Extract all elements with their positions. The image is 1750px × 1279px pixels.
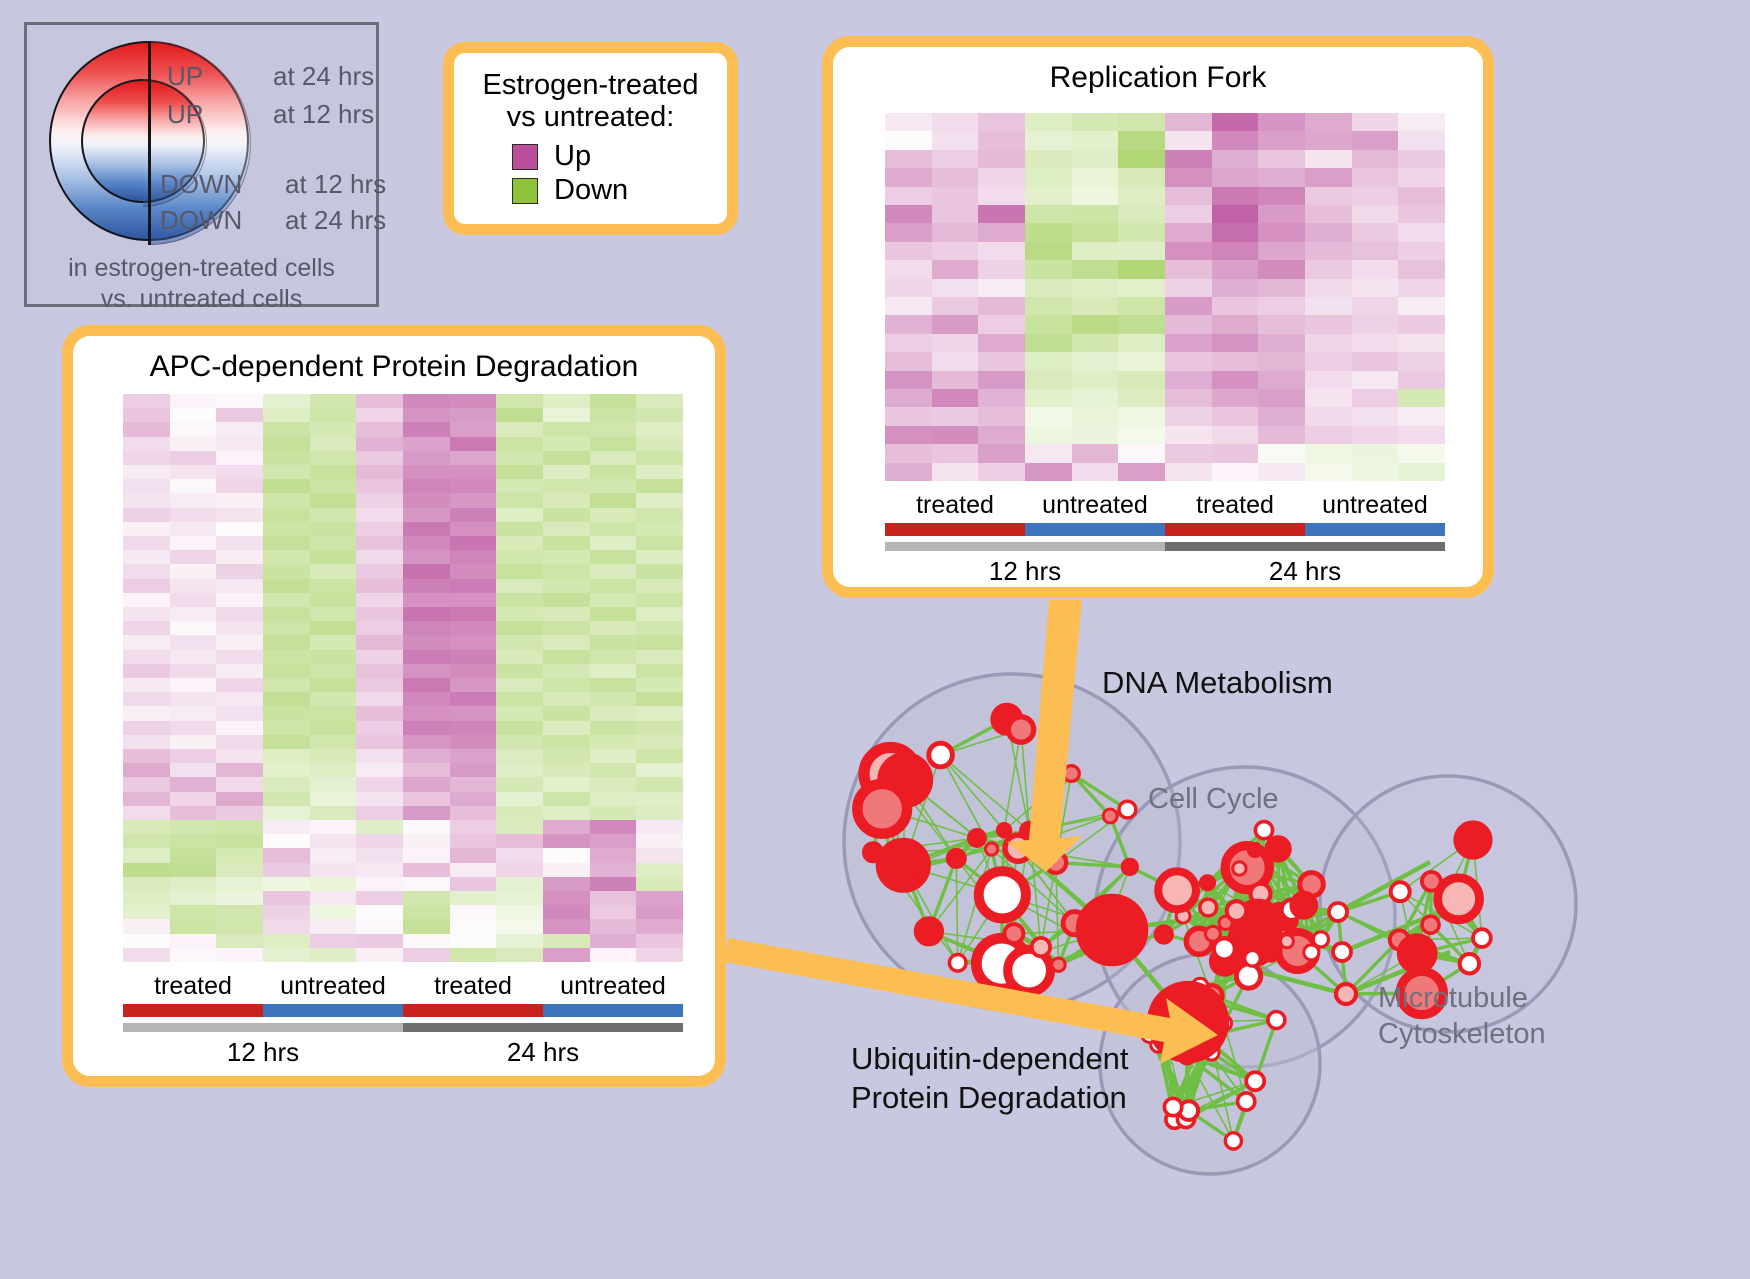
heatmap-cell (263, 777, 310, 791)
disc-time-down-12: at 12 hrs (285, 169, 386, 200)
heatmap-cell (496, 777, 543, 791)
heatmap-cell (636, 422, 683, 436)
treatment-label-row: treateduntreatedtreateduntreated (885, 491, 1445, 520)
heatmap-cell (450, 763, 497, 777)
heatmap-cell (636, 905, 683, 919)
heatmap-cell (403, 678, 450, 692)
heatmap-cell (310, 394, 357, 408)
network-node[interactable] (1046, 852, 1067, 873)
heatmap-cell (263, 607, 310, 621)
heatmap-cell (1072, 315, 1119, 333)
heatmap-cell (543, 408, 590, 422)
network-node[interactable] (1391, 882, 1410, 901)
heatmap-cell (1165, 407, 1212, 425)
heatmap-cell (123, 522, 170, 536)
heatmap-cell (356, 905, 403, 919)
heatmap-cell (978, 260, 1025, 278)
heatmap-cell (1165, 389, 1212, 407)
heatmap-cell (496, 579, 543, 593)
heatmap-cell (263, 820, 310, 834)
heatmap-cell (216, 635, 263, 649)
network-node[interactable] (1122, 859, 1137, 874)
heatmap-cell (356, 451, 403, 465)
heatmap-cell (543, 749, 590, 763)
heatmap-cell (496, 863, 543, 877)
heatmap-cell (403, 806, 450, 820)
heatmap-cell (170, 678, 217, 692)
network-node[interactable] (1158, 871, 1196, 909)
ubiquitin-line1: Ubiquitin-dependent (851, 1040, 1129, 1079)
network-node[interactable] (1248, 843, 1261, 856)
network-node[interactable] (1336, 984, 1356, 1004)
heatmap-cell (216, 721, 263, 735)
heatmap-cell (1025, 242, 1072, 260)
heatmap-cell (1165, 297, 1212, 315)
heatmap-cell (1165, 260, 1212, 278)
heatmap-cell (496, 806, 543, 820)
network-node[interactable] (1457, 824, 1489, 856)
heatmap-cell (543, 934, 590, 948)
heatmap-cell (403, 493, 450, 507)
heatmap-cell (263, 678, 310, 692)
heatmap-cell (1212, 168, 1259, 186)
network-node[interactable] (1064, 766, 1080, 782)
disc-label-up-24: UP (167, 61, 203, 92)
heatmap-cell (450, 465, 497, 479)
heatmap-cell (310, 721, 357, 735)
heatmap-cell (403, 508, 450, 522)
heatmap-cell (932, 315, 979, 333)
heatmap-cell (170, 948, 217, 962)
replication-fork-title: Replication Fork (833, 47, 1483, 105)
heatmap-cell (590, 536, 637, 550)
heatmap-cell (1118, 407, 1165, 425)
heatmap-cell (978, 426, 1025, 444)
heatmap-cell (123, 806, 170, 820)
heatmap-cell (123, 877, 170, 891)
network-node[interactable] (1004, 924, 1023, 943)
heatmap-cell (978, 444, 1025, 462)
network-node[interactable] (1227, 901, 1247, 921)
heatmap-cell (543, 735, 590, 749)
network-node[interactable] (1267, 838, 1290, 861)
heatmap-cell (932, 389, 979, 407)
network-node[interactable] (1236, 964, 1260, 988)
heatmap-cell (1025, 315, 1072, 333)
heatmap-cell (123, 934, 170, 948)
treatment-label: treated (885, 491, 1025, 520)
heatmap-cell (356, 806, 403, 820)
network-node[interactable] (1214, 938, 1235, 959)
heatmap-cell (885, 279, 932, 297)
heatmap-cell (496, 564, 543, 578)
network-node[interactable] (1154, 988, 1222, 1056)
heatmap-cell (1072, 150, 1119, 168)
network-node[interactable] (929, 743, 953, 767)
heatmap-cell (1025, 352, 1072, 370)
heatmap-cell (1118, 260, 1165, 278)
heatmap-cell (310, 451, 357, 465)
heatmap-cell (885, 131, 932, 149)
heatmap-cell (1258, 407, 1305, 425)
heatmap-cell (216, 792, 263, 806)
heatmap-cell (450, 735, 497, 749)
heatmap-cell (263, 493, 310, 507)
heatmap-cell (310, 905, 357, 919)
heatmap-cell (543, 848, 590, 862)
heatmap-cell (403, 635, 450, 649)
heatmap-cell (216, 593, 263, 607)
heatmap-cell (1118, 205, 1165, 223)
heatmap-cell (496, 706, 543, 720)
heatmap-cell (216, 550, 263, 564)
heatmap-cell (450, 437, 497, 451)
heatmap-cell (1025, 463, 1072, 481)
heatmap-cell (590, 508, 637, 522)
treatment-label: untreated (543, 972, 683, 1001)
heatmap-cell (932, 279, 979, 297)
heatmap-cell (1305, 168, 1352, 186)
network-node[interactable] (1052, 958, 1065, 971)
time-label: 24 hrs (1165, 556, 1445, 587)
heatmap-cell (310, 948, 357, 962)
heatmap-cell (403, 650, 450, 664)
heatmap-cell (450, 579, 497, 593)
heatmap-cell (170, 735, 217, 749)
treatment-label: untreated (1025, 491, 1165, 520)
network-node[interactable] (1313, 932, 1328, 947)
heatmap-cell (543, 863, 590, 877)
heatmap-cell (1258, 463, 1305, 481)
heatmap-cell (403, 820, 450, 834)
heatmap-cell (1258, 352, 1305, 370)
heatmap-cell (1212, 279, 1259, 297)
heatmap-cell (1165, 334, 1212, 352)
heatmap-cell (543, 792, 590, 806)
network-node[interactable] (1008, 717, 1033, 742)
network-node[interactable] (1246, 1072, 1264, 1090)
heatmap-cell (1072, 168, 1119, 186)
network-node[interactable] (1400, 937, 1434, 971)
heatmap-cell (590, 735, 637, 749)
network-node[interactable] (979, 871, 1026, 918)
heatmap-cell (356, 650, 403, 664)
heatmap-cell (1025, 426, 1072, 444)
heatmap-cell (978, 168, 1025, 186)
heatmap-cell (885, 223, 932, 241)
heatmap-cell (636, 536, 683, 550)
network-node[interactable] (1422, 916, 1439, 933)
heatmap-cell (1212, 205, 1259, 223)
network-node[interactable] (1021, 822, 1038, 839)
heatmap-cell (1212, 150, 1259, 168)
network-node[interactable] (1233, 862, 1246, 875)
heatmap-cell (1352, 389, 1399, 407)
heatmap-cell (450, 536, 497, 550)
heatmap-cell (636, 564, 683, 578)
heatmap-cell (1258, 168, 1305, 186)
heatmap-cell (1118, 223, 1165, 241)
disc-label-down-12: DOWN (160, 169, 242, 200)
heatmap-cell (216, 806, 263, 820)
heatmap-cell (636, 479, 683, 493)
heatmap-cell (636, 465, 683, 479)
heatmap-cell (170, 650, 217, 664)
network-node[interactable] (1245, 951, 1261, 967)
heatmap-cell (403, 692, 450, 706)
heatmap-cell (543, 579, 590, 593)
heatmap-cell (1305, 389, 1352, 407)
heatmap-cell (543, 422, 590, 436)
heatmap-cell (1165, 205, 1212, 223)
heatmap-cell (450, 905, 497, 919)
heatmap-cell (356, 465, 403, 479)
heatmap-cell (310, 678, 357, 692)
heatmap-cell (978, 315, 1025, 333)
heatmap-cell (1118, 297, 1165, 315)
heatmap-cell (496, 948, 543, 962)
heatmap-cell (590, 721, 637, 735)
heatmap-cell (356, 550, 403, 564)
heatmap-cell (1025, 297, 1072, 315)
disc-caption: in estrogen-treated cells vs. untreated … (27, 253, 376, 314)
heatmap-cell (1352, 371, 1399, 389)
heatmap-cell (123, 408, 170, 422)
heatmap-cell (310, 820, 357, 834)
heatmap-cell (403, 777, 450, 791)
heatmap-cell (123, 749, 170, 763)
heatmap-cell (1305, 315, 1352, 333)
network-node[interactable] (1438, 878, 1480, 920)
heatmap-cell (170, 792, 217, 806)
heatmap-cell (123, 891, 170, 905)
network-node[interactable] (949, 955, 966, 972)
heatmap-cell (310, 763, 357, 777)
key-title-line1: Estrogen-treated (460, 69, 721, 101)
heatmap-cell (496, 465, 543, 479)
heatmap-cell (263, 536, 310, 550)
heatmap-cell (216, 493, 263, 507)
heatmap-cell (543, 664, 590, 678)
heatmap-cell (1352, 444, 1399, 462)
heatmap-cell (170, 422, 217, 436)
heatmap-cell (636, 593, 683, 607)
heatmap-cell (636, 934, 683, 948)
network-node[interactable] (969, 830, 985, 846)
network-node[interactable] (948, 850, 965, 867)
heatmap-cell (170, 579, 217, 593)
heatmap-cell (170, 522, 217, 536)
network-node[interactable] (1155, 926, 1172, 943)
heatmap-cell (123, 422, 170, 436)
network-node[interactable] (1292, 893, 1316, 917)
heatmap-cell (356, 493, 403, 507)
heatmap-cell (123, 650, 170, 664)
heatmap-cell (356, 763, 403, 777)
network-node[interactable] (881, 843, 927, 889)
heatmap-cell (123, 792, 170, 806)
network-node[interactable] (1164, 1098, 1181, 1115)
heatmap-cell (310, 792, 357, 806)
heatmap-cell (403, 706, 450, 720)
heatmap-cell (885, 463, 932, 481)
heatmap-cell (450, 408, 497, 422)
heatmap-cell (1072, 260, 1119, 278)
heatmap-cell (123, 735, 170, 749)
heatmap-cell (403, 848, 450, 862)
heatmap-cell (636, 863, 683, 877)
heatmap-cell (450, 479, 497, 493)
heatmap-cell (170, 508, 217, 522)
network-node[interactable] (985, 843, 997, 855)
heatmap-cell (216, 863, 263, 877)
heatmap-cell (1072, 371, 1119, 389)
heatmap-cell (543, 891, 590, 905)
heatmap-cell (1352, 260, 1399, 278)
heatmap-cell (216, 437, 263, 451)
heatmap-cell (978, 279, 1025, 297)
network-node[interactable] (916, 919, 941, 944)
heatmap-cell (356, 607, 403, 621)
heatmap-cell (496, 408, 543, 422)
heatmap-cell (263, 522, 310, 536)
heatmap-cell (310, 607, 357, 621)
heatmap-cell (1212, 113, 1259, 131)
heatmap-cell (1305, 279, 1352, 297)
heatmap-cell (170, 721, 217, 735)
replication-fork-panel: Replication Fork treateduntreatedtreated… (822, 36, 1494, 598)
heatmap-cell (310, 621, 357, 635)
network-node[interactable] (1255, 822, 1272, 839)
heatmap-cell (263, 735, 310, 749)
heatmap-cell (450, 848, 497, 862)
heatmap-cell (636, 550, 683, 564)
heatmap-cell (403, 522, 450, 536)
heatmap-cell (1072, 223, 1119, 241)
heatmap-cell (636, 706, 683, 720)
heatmap-cell (590, 621, 637, 635)
heatmap-cell (356, 792, 403, 806)
heatmap-cell (496, 437, 543, 451)
heatmap-cell (356, 394, 403, 408)
heatmap-cell (263, 621, 310, 635)
heatmap-cell (263, 721, 310, 735)
heatmap-cell (543, 493, 590, 507)
heatmap-cell (123, 493, 170, 507)
network-node[interactable] (1460, 954, 1479, 973)
heatmap-cell (1212, 260, 1259, 278)
microtubule-line1: Microtubule (1378, 980, 1546, 1016)
heatmap-cell (543, 834, 590, 848)
heatmap-cell (450, 834, 497, 848)
heatmap-cell (1118, 371, 1165, 389)
network-node[interactable] (1032, 938, 1050, 956)
heatmap-cell (1212, 426, 1259, 444)
heatmap-cell (310, 493, 357, 507)
heatmap-cell (170, 593, 217, 607)
heatmap-cell (1025, 371, 1072, 389)
network-node[interactable] (1473, 929, 1491, 947)
heatmap-cell (590, 479, 637, 493)
heatmap-cell (310, 465, 357, 479)
heatmap-cell (932, 242, 979, 260)
heatmap-cell (263, 905, 310, 919)
network-node[interactable] (1082, 900, 1142, 960)
heatmap-cell (123, 905, 170, 919)
heatmap-cell (1398, 315, 1445, 333)
heatmap-cell (932, 444, 979, 462)
heatmap-cell (590, 465, 637, 479)
heatmap-cell (170, 621, 217, 635)
heatmap-cell (1025, 131, 1072, 149)
network-node[interactable] (1119, 801, 1136, 818)
heatmap-cell (543, 721, 590, 735)
network-node[interactable] (1225, 1133, 1241, 1149)
heatmap-cell (1258, 187, 1305, 205)
heatmap-cell (310, 408, 357, 422)
heatmap-cell (1398, 187, 1445, 205)
heatmap-cell (496, 493, 543, 507)
network-node[interactable] (1333, 943, 1351, 961)
heatmap-cell (636, 948, 683, 962)
heatmap-cell (403, 721, 450, 735)
network-node[interactable] (886, 866, 899, 879)
heatmap-cell (543, 451, 590, 465)
heatmap-cell (1118, 242, 1165, 260)
heatmap-cell (356, 621, 403, 635)
heatmap-cell (170, 877, 217, 891)
heatmap-cell (170, 635, 217, 649)
network-node[interactable] (857, 784, 907, 834)
heatmap-cell (263, 508, 310, 522)
heatmap-cell (450, 621, 497, 635)
heatmap-cell (263, 564, 310, 578)
heatmap-cell (1258, 131, 1305, 149)
heatmap-cell (1165, 242, 1212, 260)
heatmap-cell (356, 834, 403, 848)
network-node[interactable] (1103, 809, 1117, 823)
heatmap-cell (450, 934, 497, 948)
network-node[interactable] (1200, 876, 1214, 890)
network-node[interactable] (997, 824, 1010, 837)
heatmap-cell (170, 863, 217, 877)
network-node[interactable] (1329, 903, 1347, 921)
heatmap-cell (356, 579, 403, 593)
heatmap-cell (1165, 426, 1212, 444)
heatmap-cell (450, 550, 497, 564)
network-node[interactable] (1280, 935, 1293, 948)
heatmap-cell (170, 536, 217, 550)
heatmap-cell (1212, 444, 1259, 462)
heatmap-cell (170, 763, 217, 777)
heatmap-cell (403, 564, 450, 578)
heatmap-cell (1165, 444, 1212, 462)
heatmap-cell (310, 508, 357, 522)
heatmap-cell (978, 223, 1025, 241)
network-node[interactable] (1238, 1093, 1255, 1110)
heatmap-cell (1398, 113, 1445, 131)
network-node[interactable] (1200, 899, 1217, 916)
heatmap-cell (170, 891, 217, 905)
heatmap-cell (403, 408, 450, 422)
network-node[interactable] (1268, 1012, 1285, 1029)
heatmap-cell (636, 678, 683, 692)
heatmap-cell (170, 437, 217, 451)
heatmap-cell (170, 777, 217, 791)
heatmap-cell (590, 579, 637, 593)
heatmap-cell (356, 635, 403, 649)
heatmap-cell (590, 678, 637, 692)
